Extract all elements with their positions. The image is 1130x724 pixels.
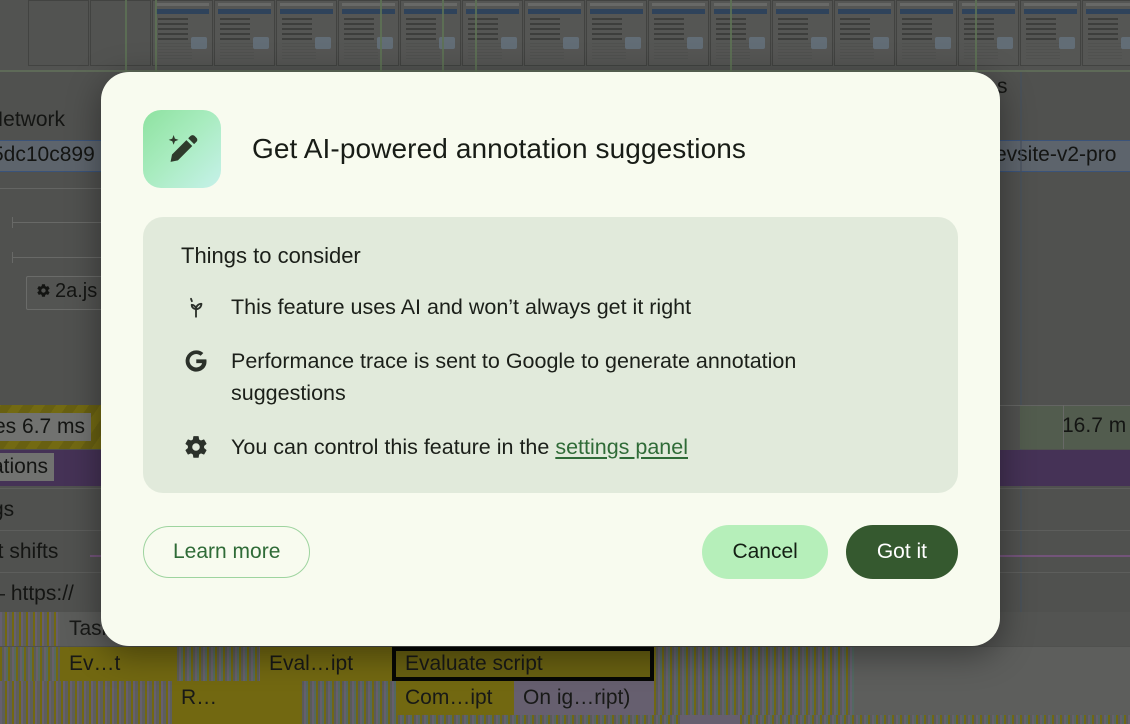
consideration-text: Performance trace is sent to Google to g… [231, 345, 871, 409]
considerations-heading: Things to consider [181, 243, 928, 269]
dialog-header: Get AI-powered annotation suggestions [101, 72, 1000, 188]
dialog-title: Get AI-powered annotation suggestions [252, 133, 746, 165]
consideration-text: You can control this feature in the sett… [231, 431, 688, 463]
dialog-footer: Learn more Cancel Got it [101, 493, 1000, 579]
sprout-icon [181, 292, 211, 322]
settings-panel-link[interactable]: settings panel [555, 435, 688, 459]
footer-actions: Cancel Got it [702, 525, 958, 579]
cancel-button[interactable]: Cancel [702, 525, 827, 579]
considerations-list: This feature uses AI and won’t always ge… [181, 291, 928, 463]
considerations-panel: Things to consider This feature uses AI … [143, 217, 958, 493]
got-it-button[interactable]: Got it [846, 525, 958, 579]
consideration-item-settings-control: You can control this feature in the sett… [181, 431, 928, 463]
gear-icon [181, 432, 211, 462]
screen: Network 5dc10c899 evsite-v2-pro s 2a.js … [0, 0, 1130, 724]
learn-more-button[interactable]: Learn more [143, 526, 310, 578]
consideration-text: This feature uses AI and won’t always ge… [231, 291, 691, 323]
ai-annotation-consent-dialog: Get AI-powered annotation suggestions Th… [101, 72, 1000, 646]
magic-pencil-icon [143, 110, 221, 188]
google-g-icon [181, 346, 211, 376]
consideration-text-prefix: You can control this feature in the [231, 435, 555, 459]
consideration-item-ai-accuracy: This feature uses AI and won’t always ge… [181, 291, 928, 323]
consideration-item-data-sent-to-google: Performance trace is sent to Google to g… [181, 345, 928, 409]
